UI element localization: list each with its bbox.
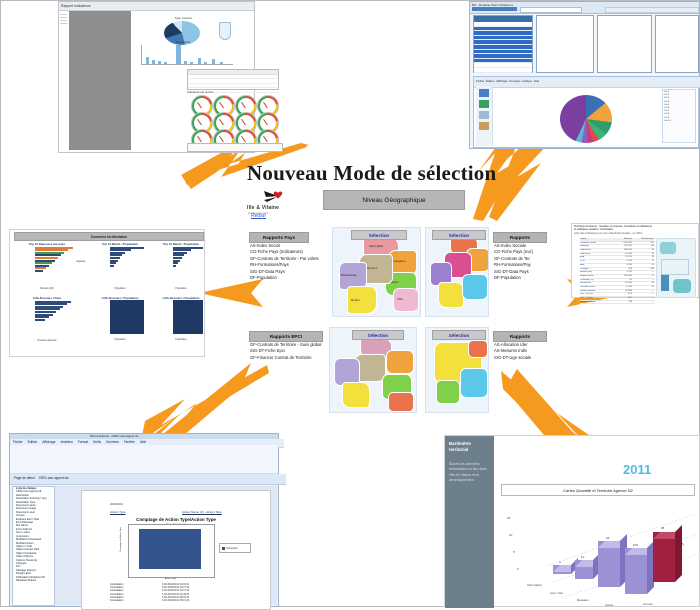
- dashboard-title: Rapport Indicateurs: [59, 2, 254, 8]
- chart-xlabel: Montant (k€): [18, 287, 76, 290]
- x-tick-label: Accès: [605, 603, 613, 607]
- chart-xlabel: Population: [94, 287, 146, 290]
- chart-title: LOG-Dossiers / Pays: [18, 296, 76, 300]
- report-col-1: Action Type: [110, 510, 126, 514]
- logo: Ille & Vilaine le département: [241, 187, 301, 221]
- chart-xlabel: Dossiers déposés: [18, 339, 76, 342]
- legend-entry: Cat 10: [664, 120, 694, 123]
- toolbar-item[interactable]: Analyse: [522, 79, 532, 83]
- toolbar-item[interactable]: Affichage: [496, 79, 508, 83]
- selection-button[interactable]: Sélection: [432, 330, 486, 340]
- report-panel-pays: Rapports Pays AS-Index Social CG-Fiche P…: [249, 232, 309, 278]
- bar-value-label: 26: [606, 536, 609, 540]
- bar-value-label: 100: [633, 543, 638, 547]
- bar-3d[interactable]: [653, 532, 675, 582]
- chart-plot[interactable]: [94, 247, 146, 287]
- chart-title: Top 10 Dépenses par pays: [18, 242, 76, 246]
- top-left-dashboard[interactable]: Rapport Indicateurs Type Contrat Réparti…: [58, 1, 255, 153]
- chart-plot[interactable]: [18, 301, 76, 339]
- x-tick-label: Information: [527, 583, 542, 587]
- chart-legend: Légende: [76, 260, 85, 263]
- chart-plot[interactable]: [158, 300, 204, 338]
- chart-xlabel: Action Type: [128, 578, 213, 580]
- detail-panel-2[interactable]: [597, 15, 652, 73]
- map-region[interactable]: [388, 392, 414, 412]
- left-charts-sheet[interactable]: Données territoriales Top 10 Dépenses pa…: [9, 229, 205, 357]
- tab-report[interactable]: CR01 cas rapport.xls: [39, 476, 69, 483]
- toolbar-item[interactable]: Édition: [486, 79, 495, 83]
- map-region[interactable]: [462, 274, 488, 300]
- report-panel-right-bottom-header: Rapports: [493, 331, 547, 342]
- map-region-label: Redon: [351, 298, 360, 302]
- bar-series: [139, 529, 201, 569]
- map-epci-1[interactable]: Sélection: [329, 327, 417, 413]
- app-title: BO - Requête Web Intelligence: [470, 2, 699, 7]
- report-item[interactable]: DF-Population: [249, 275, 309, 281]
- app-ribbon[interactable]: BO - Requête Web Intelligence: [470, 2, 699, 14]
- chart-plot[interactable]: [18, 247, 76, 287]
- side-title: Barômètre territorial: [445, 436, 494, 453]
- report-panel-right-top-header: Rapports: [493, 232, 547, 243]
- report-panel-pays-header: Rapports Pays: [249, 232, 309, 243]
- ille-et-vilaine-logo-icon: [263, 189, 285, 205]
- bar-value-label: 4: [559, 560, 561, 564]
- bar-3d[interactable]: [553, 565, 571, 574]
- report-date: 2019/02/12: [110, 503, 123, 506]
- report-viewer-toolbar[interactable]: Fichier Édition Affichage Données Analys…: [474, 77, 700, 88]
- bottom-left-excel-window[interactable]: Microsoft Excel - CR01-Cas-rapport.xls F…: [9, 433, 279, 607]
- map-region[interactable]: [438, 282, 464, 308]
- right-indicator-table[interactable]: Territoires & acteurs : situation et con…: [571, 223, 699, 298]
- dashboard-table: [187, 69, 279, 90]
- arrow-icon-left: [199, 277, 263, 309]
- dashboard-footer-table: [187, 143, 283, 152]
- data-table[interactable]: Consultation6.00 2019/02/12 02:15:41 Con…: [110, 583, 260, 602]
- map-region[interactable]: [468, 340, 488, 358]
- bar-chart[interactable]: [141, 45, 233, 65]
- report-viewer-sidebar[interactable]: [476, 86, 493, 146]
- chart-plot[interactable]: [158, 247, 204, 287]
- bar-3d[interactable]: [625, 548, 647, 594]
- map-region[interactable]: [386, 350, 414, 374]
- report-page[interactable]: 2019/02/12 Action Type Action Name (2) -…: [81, 490, 271, 610]
- page-root: Nouveau Mode de sélection Ille & Vilaine…: [0, 0, 700, 607]
- left-charts-header: Données territoriales: [14, 232, 204, 241]
- report-item[interactable]: DF-Population: [493, 275, 547, 281]
- bar-chart[interactable]: [128, 524, 215, 578]
- dashboard-titlebar: Rapport Indicateurs: [59, 2, 254, 11]
- report-item[interactable]: GF-Financer Contrat de Territoire: [249, 355, 323, 361]
- report-item[interactable]: SIG-DT-Uge sociale: [493, 355, 547, 361]
- dashboard-side-gauge: [219, 22, 231, 40]
- x-tick-label: Accueil: [643, 602, 653, 606]
- detail-panel-3[interactable]: [655, 15, 699, 73]
- map-epci-2[interactable]: Sélection: [425, 327, 489, 413]
- legend-entry: Document: [227, 547, 238, 550]
- x-tick-label: Lien / lots: [550, 591, 563, 595]
- map-pays-1[interactable]: Saint-Malo Fougères Vallons Rennes Brocé…: [332, 227, 421, 317]
- map-region[interactable]: [342, 382, 370, 408]
- pie-chart[interactable]: [560, 95, 612, 143]
- page-title: Nouveau Mode de sélection: [247, 161, 507, 189]
- bottom-right-chart-panel[interactable]: Barômètre territorial Suivre les données…: [444, 435, 700, 607]
- chart-year: 2011: [623, 462, 651, 477]
- x-tick-label: Réseaux: [577, 598, 589, 602]
- chart-xlabel: Population: [158, 338, 204, 341]
- map-region[interactable]: [436, 380, 460, 404]
- bar-3d[interactable]: [598, 541, 620, 587]
- table-minimap[interactable]: [656, 238, 696, 298]
- map-region-label: Rennes: [367, 266, 377, 270]
- cursor-icon: ↖: [681, 542, 685, 548]
- map-pays-2[interactable]: Sélection: [425, 227, 489, 317]
- report-viewer[interactable]: Fichier Édition Affichage Données Analys…: [473, 76, 699, 148]
- report-panel-epci-header: Rapports EPCI: [249, 331, 323, 342]
- geo-level-button-label: Niveau Géographique: [362, 197, 425, 204]
- map-region[interactable]: [460, 368, 488, 398]
- map-region-label: Saint-Malo: [369, 244, 383, 248]
- toolbar-item[interactable]: Aide: [534, 79, 540, 83]
- column-header: Libellé: [580, 238, 610, 241]
- report-panel-right-bottom: Rapports AS-Allocation Ider AS-Mesures I…: [493, 331, 547, 359]
- chart-xlabel: Population: [158, 287, 204, 290]
- field-item[interactable]: Résultats Shared: [13, 579, 54, 582]
- table-subtitle: Liste des indicateurs pour les collectiv…: [572, 232, 698, 235]
- dashboard-side-strip: [59, 12, 68, 26]
- data-list-panel[interactable]: [473, 15, 533, 73]
- chart-caption: Cartes Quantité et Territoire Agence N2: [501, 484, 695, 496]
- side-text: Suivre les données territoriales en lien…: [445, 453, 494, 484]
- table-row[interactable]: Densité hab/km²148—: [580, 301, 655, 305]
- chart-xlabel: Population: [94, 338, 146, 341]
- report-panel-epci: Rapports EPCI GF-Contrats de Territoire …: [249, 331, 323, 359]
- report-item[interactable]: CG-Fiche Pays (Indicateurs): [249, 249, 309, 255]
- back-link[interactable]: Retour: [251, 213, 266, 219]
- toolbar-item[interactable]: Fichier: [476, 79, 484, 83]
- bar-3d[interactable]: [575, 560, 593, 579]
- dashboard-filter-panel[interactable]: [69, 11, 131, 150]
- column-header: Montant: [610, 238, 632, 241]
- table-row[interactable]: Consultation6.00 2019/02/12 05:21:33: [110, 599, 260, 602]
- chart-side-panel: Barômètre territorial Suivre les données…: [445, 436, 494, 608]
- gauges-label: Indicateurs par secteur: [187, 91, 279, 94]
- selection-button[interactable]: Sélection: [352, 330, 404, 340]
- excel-title: Microsoft Excel - CR01-Cas-rapport.xls: [10, 434, 278, 438]
- excel-tabs[interactable]: Page de début CR01 cas rapport.xls: [10, 474, 286, 485]
- selection-button[interactable]: Sélection: [432, 230, 486, 240]
- detail-panel-1[interactable]: [536, 15, 594, 73]
- tab-start-page[interactable]: Page de début: [14, 476, 35, 483]
- selection-button[interactable]: Sélection: [351, 230, 407, 240]
- bar-chart-title: Répartition: [159, 40, 207, 44]
- map-region-label: Vitré: [397, 297, 403, 301]
- excel-sheet[interactable]: 2019/02/12 Action Type Action Name (2) -…: [55, 486, 277, 605]
- chart-title: Top 10 Bénéf. / Population: [158, 242, 204, 246]
- chart-title: Top 10 Bénéf. / Population: [94, 242, 146, 246]
- report-col-2: Action Name (2) - Action Time: [182, 510, 222, 514]
- column-header: Bénéficiaires: [632, 238, 654, 241]
- top-right-bi-app[interactable]: BO - Requête Web Intelligence: [469, 1, 700, 149]
- chart-plot[interactable]: [94, 300, 146, 338]
- map-region-label: Brocéliande: [341, 273, 357, 277]
- bar-value-label: 10: [581, 555, 584, 559]
- excel-formula-bar[interactable]: [10, 466, 278, 474]
- table[interactable]: Libellé Montant Bénéficiaires Population…: [580, 238, 655, 304]
- map-region-label: Fougères: [393, 259, 406, 263]
- chart-ylabel: Comptage de Action Type: [120, 527, 126, 552]
- chart-legend: Document: [219, 543, 251, 553]
- report-panel-right-top: Rapports AS-Index Sociale CG-Fiche Pays …: [493, 232, 547, 278]
- field-list-panel[interactable]: Liste de champs CR01 Cas rapport.pdf Des…: [12, 486, 55, 606]
- toolbar-item[interactable]: Données: [509, 79, 520, 83]
- geo-level-button[interactable]: Niveau Géographique: [323, 190, 465, 210]
- pie-chart-legend: Cat 1 Cat 2 Cat 3 Cat 4 Cat 5 Cat 6 Cat …: [662, 89, 696, 143]
- bar-value-label: 68: [661, 526, 664, 530]
